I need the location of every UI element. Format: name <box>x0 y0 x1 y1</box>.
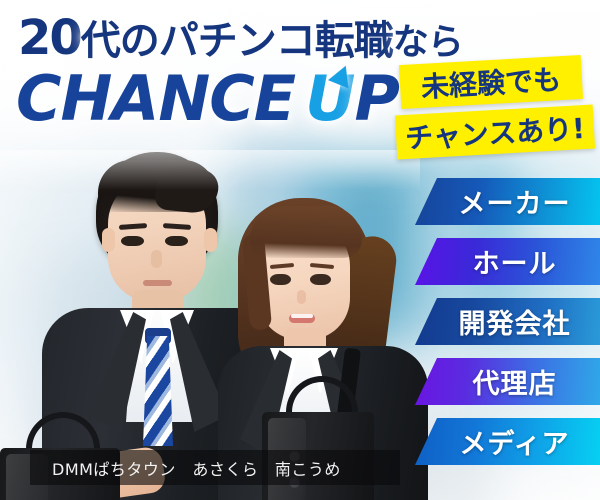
logo-letter-p: P <box>354 62 398 135</box>
logo-word-chance: CHANCE <box>16 62 295 135</box>
menu-item-maker[interactable]: メーカー <box>415 178 600 225</box>
business-people-photo <box>0 150 420 500</box>
headline-number: 20 <box>18 10 81 66</box>
menu-item-agency[interactable]: 代理店 <box>415 358 600 405</box>
menu-item-label: 開発会社 <box>415 302 600 341</box>
category-menu: メーカー ホール 開発会社 代理店 メディア <box>400 178 600 478</box>
menu-item-label: メーカー <box>415 182 600 221</box>
menu-item-label: ホール <box>415 242 600 281</box>
promo-banner: 20代のパチンコ転職なら CHANCEUP 未経験でも チャンスあり! メーカー… <box>0 0 600 500</box>
headline: 20代のパチンコ転職なら <box>18 14 438 62</box>
chance-up-logo: CHANCEUP <box>16 68 399 130</box>
caption-text: DMMぱちタウン あさくら 南こうめ <box>30 456 341 480</box>
menu-item-media[interactable]: メディア <box>415 418 600 465</box>
headline-tail: なら <box>393 22 463 63</box>
menu-item-label: 代理店 <box>415 362 600 401</box>
menu-item-hall[interactable]: ホール <box>415 238 600 285</box>
menu-item-label: メディア <box>415 422 600 461</box>
menu-item-development-company[interactable]: 開発会社 <box>415 298 600 345</box>
headline-middle: 代のパチンコ転職 <box>81 18 393 64</box>
logo-word-up: UP <box>305 68 399 130</box>
caption-band: DMMぱちタウン あさくら 南こうめ <box>30 450 400 485</box>
